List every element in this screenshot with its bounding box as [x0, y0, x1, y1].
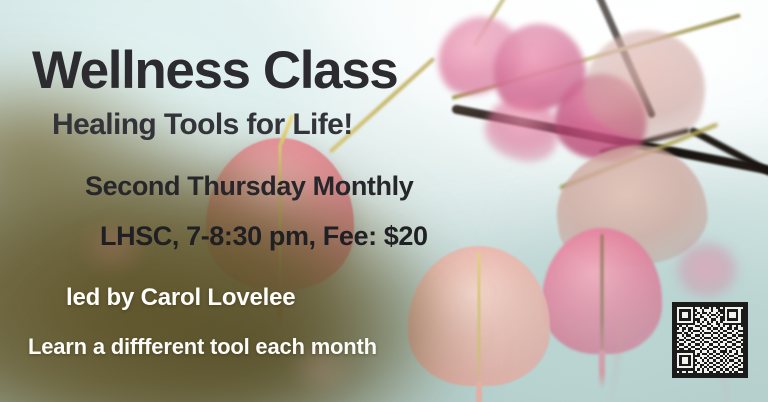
instructor-line: led by Carol Lovelee [66, 286, 295, 310]
footnote-line: Learn a diffferent tool each month [28, 336, 377, 358]
schedule-line: Second Thursday Monthly [85, 173, 413, 200]
tagline: Healing Tools for Life! [52, 110, 353, 140]
location-time-fee-line: LHSC, 7-8:30 pm, Fee: $20 [100, 223, 428, 250]
qr-code[interactable] [672, 302, 748, 378]
page-title: Wellness Class [32, 44, 397, 97]
leaf-pink-small-right [672, 238, 742, 302]
leaf-drip-tip [476, 382, 482, 402]
leaf-midrib [601, 234, 604, 358]
leaf-pink-mid-right [542, 228, 662, 354]
leaf-drip-tip [599, 350, 605, 390]
leaf-midrib [478, 252, 481, 388]
wellness-class-poster: Wellness Class Healing Tools for Life! S… [0, 0, 768, 402]
qr-code-modules [677, 307, 743, 373]
